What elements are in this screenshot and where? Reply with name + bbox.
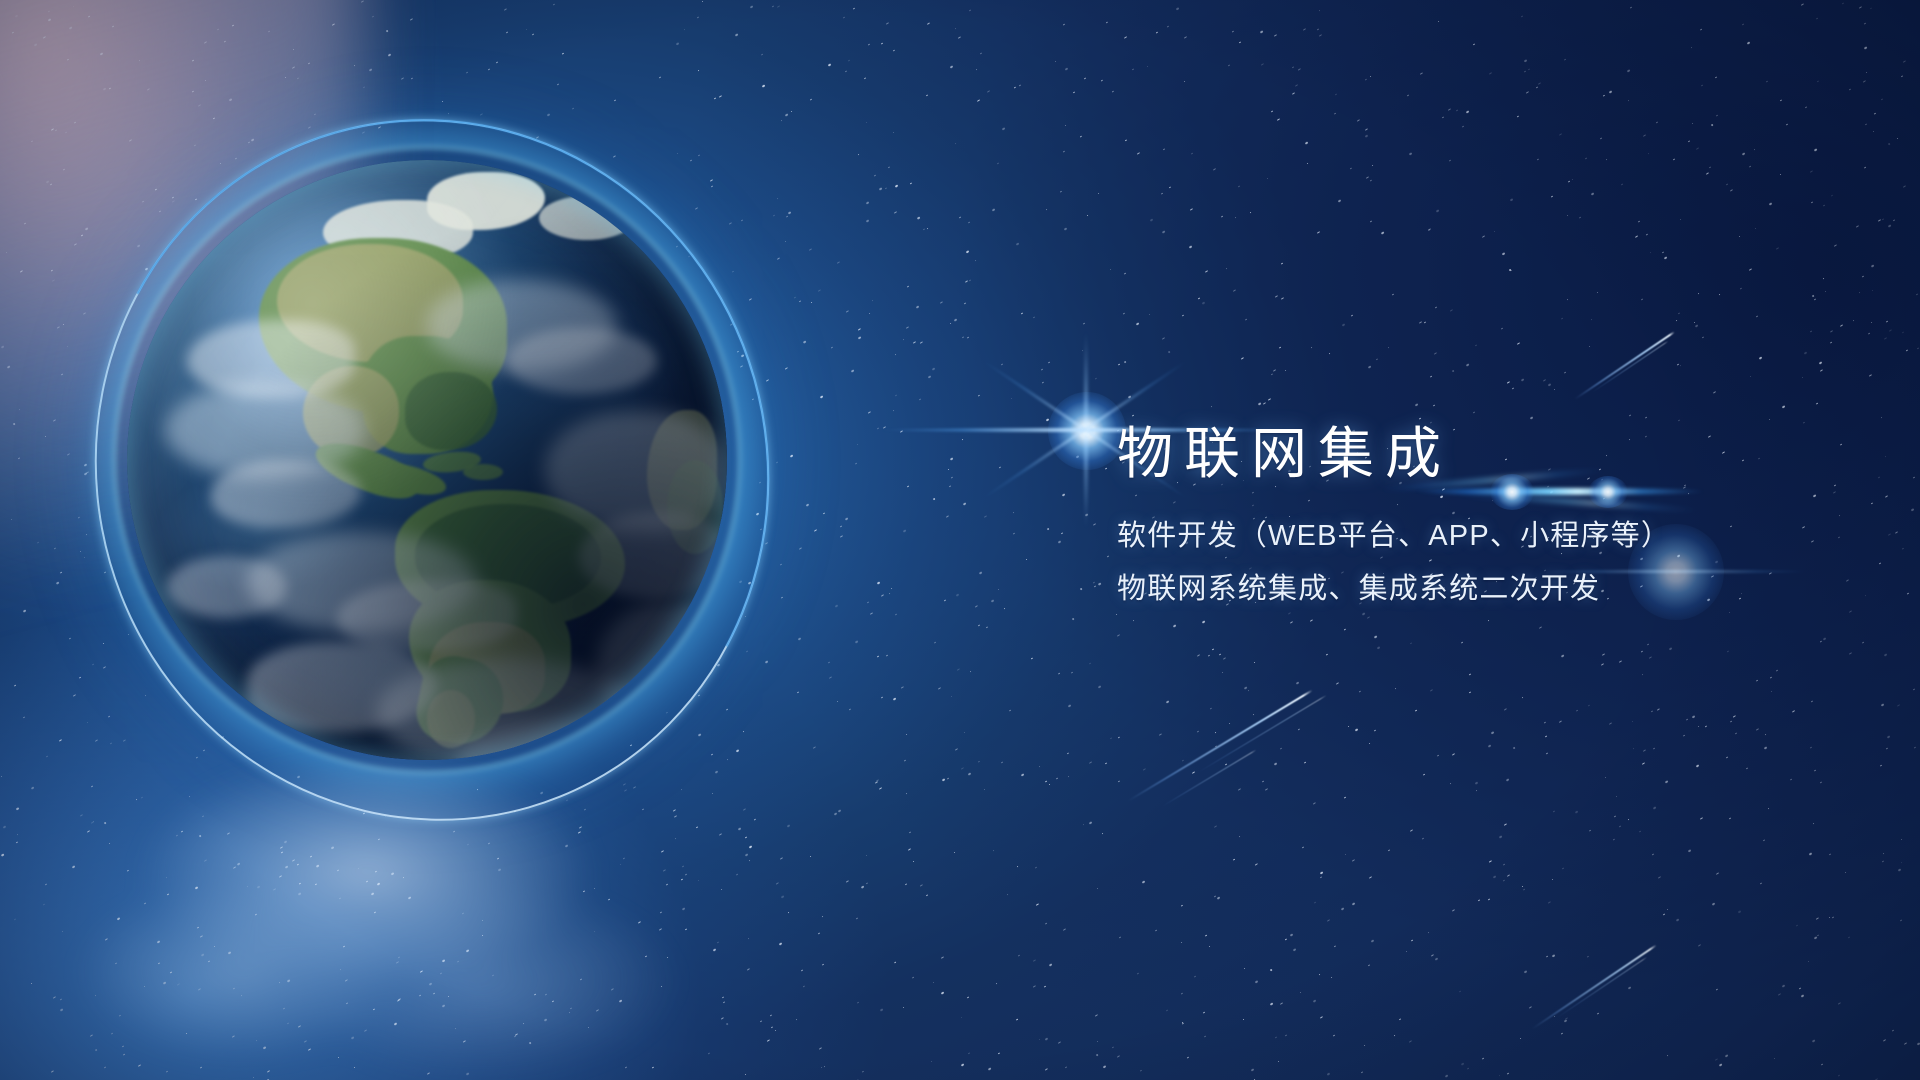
banner-headline: 物联网集成 [1117, 420, 1837, 488]
hero-banner: 物联网集成 软件开发（WEB平台、APP、小程序等） 物联网系统集成、集成系统二… [0, 0, 1920, 1080]
globe-sphere [127, 160, 727, 760]
banner-subline-1: 软件开发（WEB平台、APP、小程序等） [1117, 510, 1837, 563]
banner-subline-2: 物联网系统集成、集成系统二次开发 [1117, 563, 1837, 616]
earth-globe [127, 160, 727, 760]
banner-text-block: 物联网集成 软件开发（WEB平台、APP、小程序等） 物联网系统集成、集成系统二… [1117, 420, 1837, 616]
